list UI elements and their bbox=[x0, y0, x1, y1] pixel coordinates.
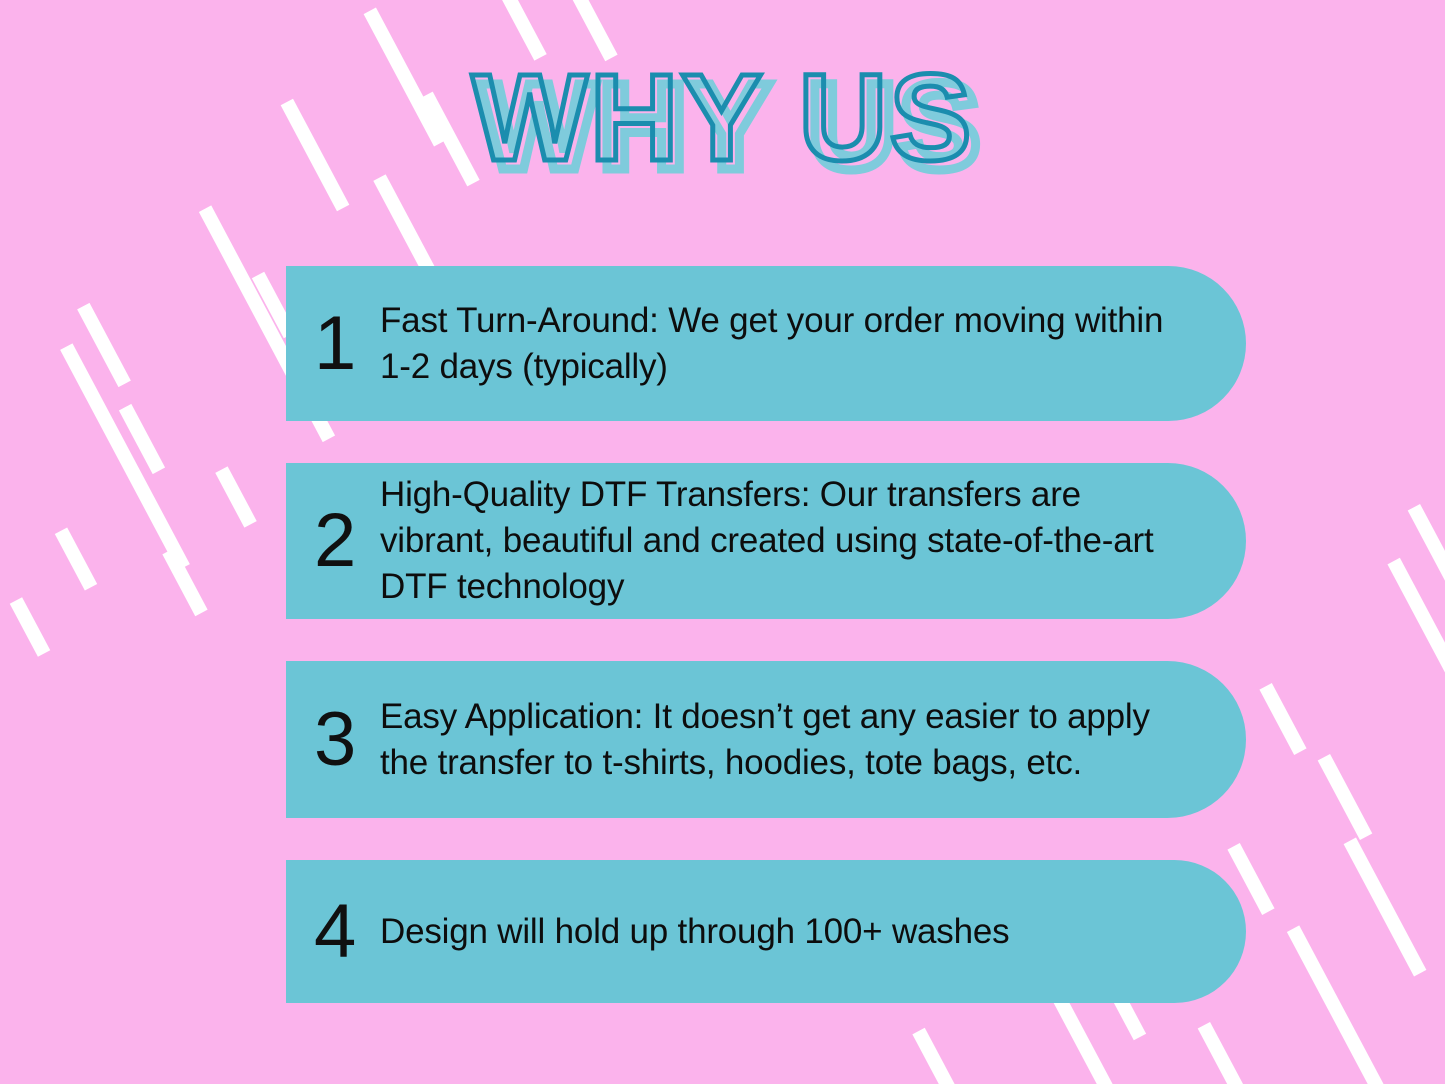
benefit-number-4: 4 bbox=[314, 894, 380, 970]
dash-stripe bbox=[1387, 558, 1445, 776]
dash-stripe bbox=[1198, 1022, 1253, 1084]
benefit-number-1: 1 bbox=[314, 306, 380, 382]
dash-stripe bbox=[912, 1028, 957, 1084]
dash-stripe bbox=[1318, 754, 1373, 840]
benefit-text-2: High-Quality DTF Transfers: Our transfer… bbox=[380, 472, 1186, 610]
dash-stripe bbox=[10, 597, 51, 657]
benefit-card-2: 2 High-Quality DTF Transfers: Our transf… bbox=[286, 463, 1246, 619]
title-outline-layer: WHY US bbox=[0, 44, 1445, 194]
benefit-card-4: 4 Design will hold up through 100+ washe… bbox=[286, 860, 1246, 1003]
poster-canvas: WHY US WHY US 1 Fast Turn-Around: We get… bbox=[0, 0, 1445, 1084]
dash-stripe bbox=[55, 527, 97, 590]
page-title: WHY US WHY US bbox=[0, 44, 1445, 194]
benefits-list: 1 Fast Turn-Around: We get your order mo… bbox=[286, 266, 1246, 1003]
benefit-number-2: 2 bbox=[314, 503, 380, 579]
dash-stripe bbox=[1344, 837, 1427, 976]
dash-stripe bbox=[215, 466, 256, 527]
dash-stripe bbox=[119, 404, 165, 474]
benefit-text-1: Fast Turn-Around: We get your order movi… bbox=[380, 298, 1186, 390]
benefit-card-1: 1 Fast Turn-Around: We get your order mo… bbox=[286, 266, 1246, 421]
benefit-text-4: Design will hold up through 100+ washes bbox=[380, 909, 1186, 955]
dash-stripe bbox=[162, 548, 207, 616]
dash-stripe bbox=[77, 303, 131, 387]
dash-stripe bbox=[1287, 925, 1393, 1084]
benefit-text-3: Easy Application: It doesn’t get any eas… bbox=[380, 694, 1186, 786]
dash-stripe bbox=[60, 343, 190, 570]
dash-stripe bbox=[1259, 683, 1306, 755]
benefit-card-3: 3 Easy Application: It doesn’t get any e… bbox=[286, 661, 1246, 818]
benefit-number-3: 3 bbox=[314, 702, 380, 778]
dash-stripe bbox=[1408, 504, 1445, 590]
